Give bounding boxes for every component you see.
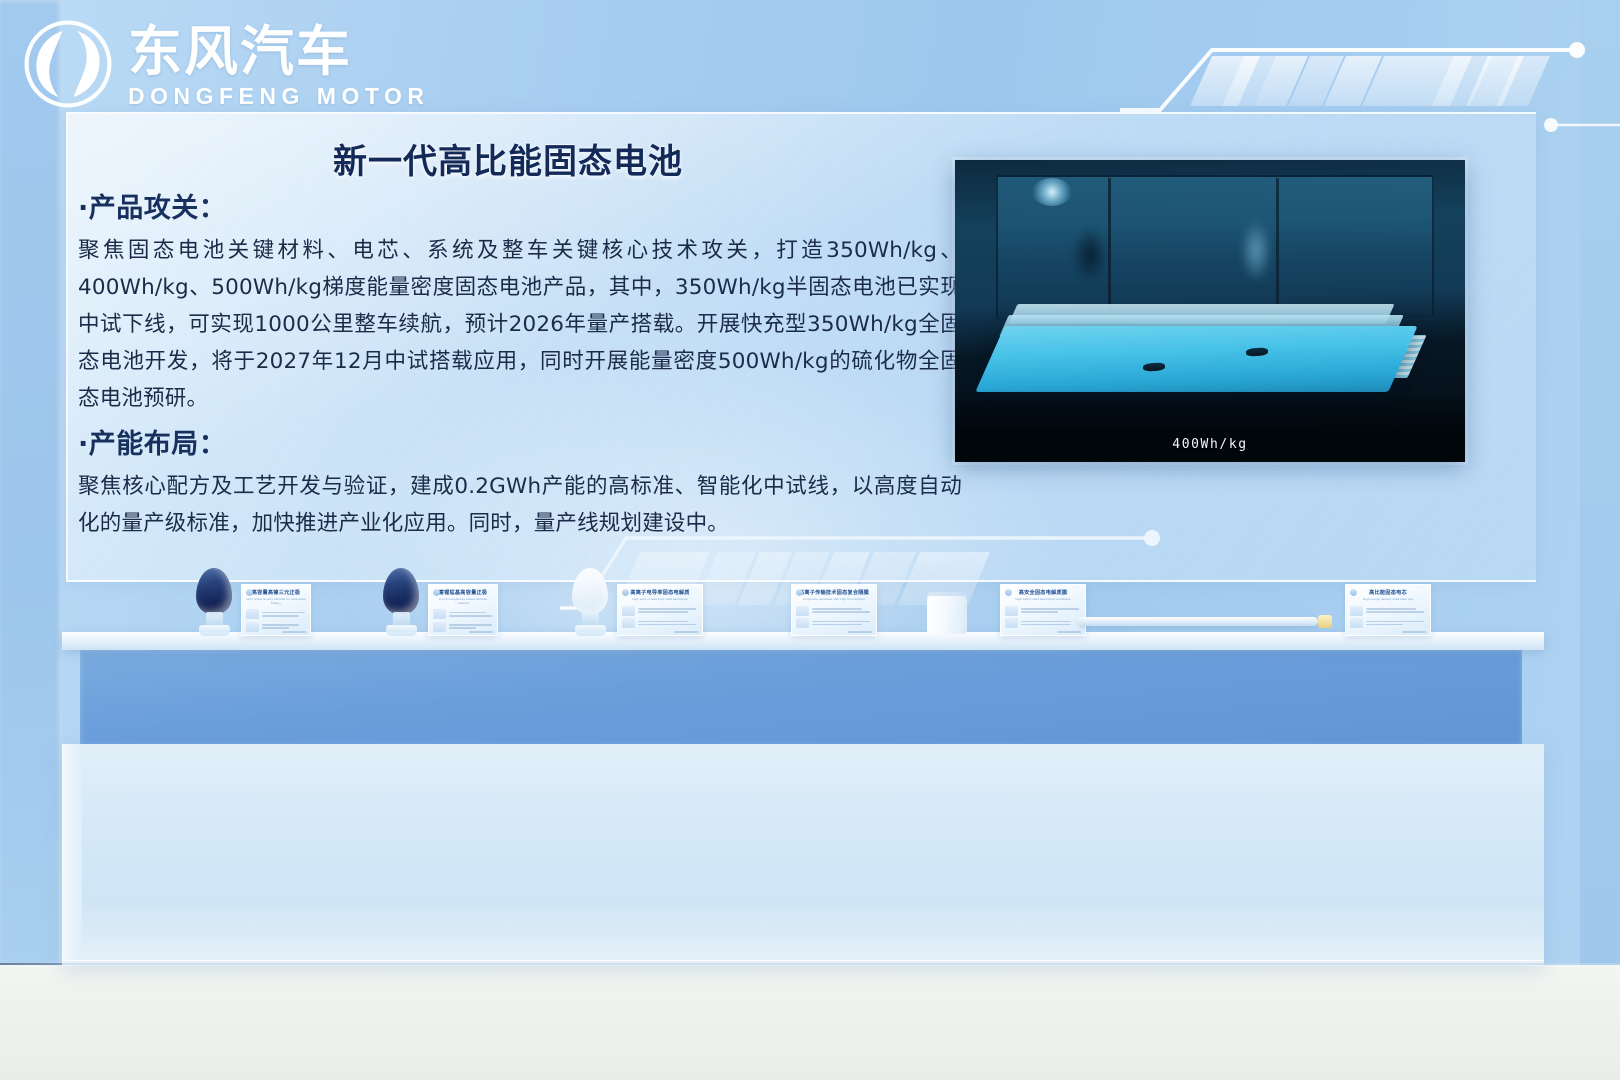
placard-rows xyxy=(622,606,698,629)
placard-title: 高安全固态电解质膜 xyxy=(1005,590,1081,597)
scene-reflection-right xyxy=(1241,220,1271,282)
jar-base xyxy=(575,625,606,636)
jar-neck xyxy=(393,612,410,625)
sample-placard[interactable]: 高安全固态电解质膜 High safety solid electrolyte … xyxy=(1000,584,1086,636)
sample-placard[interactable]: 高容量高镍三元正极 High nickel ternary cathode fo… xyxy=(241,584,311,636)
placard-footer-mark xyxy=(469,631,493,633)
placard-title: 高比能固态电芯 xyxy=(1350,590,1426,597)
placard-rows xyxy=(796,606,872,629)
list-item[interactable] xyxy=(1078,617,1328,626)
jar-body xyxy=(196,568,232,614)
placard-footer-mark xyxy=(674,631,698,633)
brand-name-cn: 东风汽车 xyxy=(128,25,429,79)
list-item[interactable]: 高容量高镍三元正极 High nickel ternary cathode fo… xyxy=(241,584,311,636)
list-item[interactable]: 高安全固态电解质膜 High safety solid electrolyte … xyxy=(1000,584,1086,636)
sample-electrolyte-membrane-roll[interactable] xyxy=(927,592,967,634)
placard-title: 高离子传输技术固态复合隔膜 xyxy=(796,590,872,597)
display-counter-front-panel xyxy=(80,648,1522,744)
placard-rows xyxy=(246,609,306,632)
placard-logo-icon xyxy=(433,589,440,596)
section-body-product: 聚焦固态电池关键材料、电芯、系统及整车关键核心技术攻关，打造350Wh/kg、4… xyxy=(78,233,962,418)
list-item[interactable]: 高离子电导率固态电解质 High ionic conductivity soli… xyxy=(617,584,703,636)
jar-neck xyxy=(582,612,599,625)
display-counter-body xyxy=(62,744,1544,966)
page-title: 新一代高比能固态电池 xyxy=(68,134,948,183)
video-display-screen: 400Wh/kg xyxy=(955,160,1465,462)
screen-caption: 400Wh/kg xyxy=(955,437,1465,452)
placard-rows xyxy=(433,609,493,632)
placard-title: 高离子电导率固态电解质 xyxy=(622,590,698,597)
placard-footer-mark xyxy=(282,631,306,633)
placard-subtitle: High safety solid electrolyte membrane xyxy=(1005,598,1081,602)
placard-logo-icon xyxy=(1350,589,1357,596)
scene-reflection-left xyxy=(1072,226,1108,284)
rod-tip xyxy=(1318,615,1332,628)
display-counter-base-edge xyxy=(62,960,1544,965)
sample-placard[interactable]: 富锂锰基高容量正极 Li-rich manganese based cathod… xyxy=(428,584,498,636)
sample-placard[interactable]: 高比能固态电芯 High energy density solid-state … xyxy=(1345,584,1431,636)
list-item[interactable] xyxy=(383,568,419,636)
sample-placard[interactable]: 高离子传输技术固态复合隔膜 Composite separator with h… xyxy=(791,584,877,636)
placard-footer-mark xyxy=(1402,631,1426,633)
panel-body: ·产品攻关： 聚焦固态电池关键材料、电芯、系统及整车关键核心技术攻关，打造350… xyxy=(74,182,974,543)
placard-logo-icon xyxy=(246,589,253,596)
jar-neck xyxy=(206,612,223,625)
placard-subtitle: High ionic conductivity solid electrolyt… xyxy=(622,598,698,602)
sample-placard[interactable]: 高离子电导率固态电解质 High ionic conductivity soli… xyxy=(617,584,703,636)
list-item[interactable]: 高离子传输技术固态复合隔膜 Composite separator with h… xyxy=(791,584,877,636)
jar-body xyxy=(572,568,608,614)
electrode-sheet-top xyxy=(975,326,1417,392)
wall-left-strip xyxy=(0,0,62,965)
placard-logo-icon xyxy=(622,589,629,596)
jar-base xyxy=(386,625,417,636)
wall-right-strip xyxy=(1580,0,1620,965)
jar-body xyxy=(383,568,419,614)
placard-subtitle: High energy density solid-state cell xyxy=(1350,598,1426,602)
section-heading-product: ·产品攻关： xyxy=(78,186,962,225)
placard-subtitle: Composite separator with high ion transp… xyxy=(796,598,872,602)
dongfeng-double-swoosh-logo-icon xyxy=(22,18,114,110)
placard-title: 高容量高镍三元正极 xyxy=(246,590,306,597)
exhibition-booth-scene: 东风汽车 DONGFENG MOTOR 新一代高比能固态电池 ·产品攻关： 聚焦… xyxy=(0,0,1620,1080)
brand-logo: 东风汽车 DONGFENG MOTOR xyxy=(22,18,429,110)
placard-footer-mark xyxy=(848,631,872,633)
list-item[interactable] xyxy=(196,568,232,636)
display-counter-left-face xyxy=(62,744,82,966)
list-item[interactable] xyxy=(927,592,967,634)
list-item[interactable]: 富锂锰基高容量正极 Li-rich manganese based cathod… xyxy=(428,584,498,636)
sample-jar-dark-1[interactable] xyxy=(196,568,232,636)
scene-glass-divider-right xyxy=(1276,178,1279,317)
brand-name-en: DONGFENG MOTOR xyxy=(128,85,429,108)
floor xyxy=(0,965,1620,1080)
jar-base xyxy=(199,625,230,636)
sample-jar-dark-2[interactable] xyxy=(383,568,419,636)
sample-solid-state-cell-rod[interactable] xyxy=(1078,617,1318,626)
placard-subtitle: Li-rich manganese based cathode material xyxy=(433,598,493,605)
placard-logo-icon xyxy=(796,589,803,596)
placard-rows xyxy=(1350,606,1426,629)
exhibit-sample-row: 高容量高镍三元正极 High nickel ternary cathode fo… xyxy=(0,560,1620,636)
scene-lamp-glow xyxy=(1032,178,1072,206)
section-body-capacity: 聚焦核心配方及工艺开发与验证，建成0.2GWh产能的高标准、智能化中试线，以高度… xyxy=(78,469,962,543)
list-item[interactable] xyxy=(572,568,608,636)
placard-title: 富锂锰基高容量正极 xyxy=(433,590,493,597)
list-item[interactable]: 高比能固态电芯 High energy density solid-state … xyxy=(1345,584,1431,636)
placard-footer-mark xyxy=(1057,631,1081,633)
placard-logo-icon xyxy=(1005,589,1012,596)
battery-sheet-photo: 400Wh/kg xyxy=(955,160,1465,462)
placard-rows xyxy=(1005,606,1081,629)
scene-glass-divider-left xyxy=(1108,178,1111,317)
sample-jar-white[interactable] xyxy=(572,568,608,636)
placard-subtitle: High nickel ternary cathode for solid-st… xyxy=(246,598,306,605)
section-heading-capacity: ·产能布局： xyxy=(78,422,962,461)
